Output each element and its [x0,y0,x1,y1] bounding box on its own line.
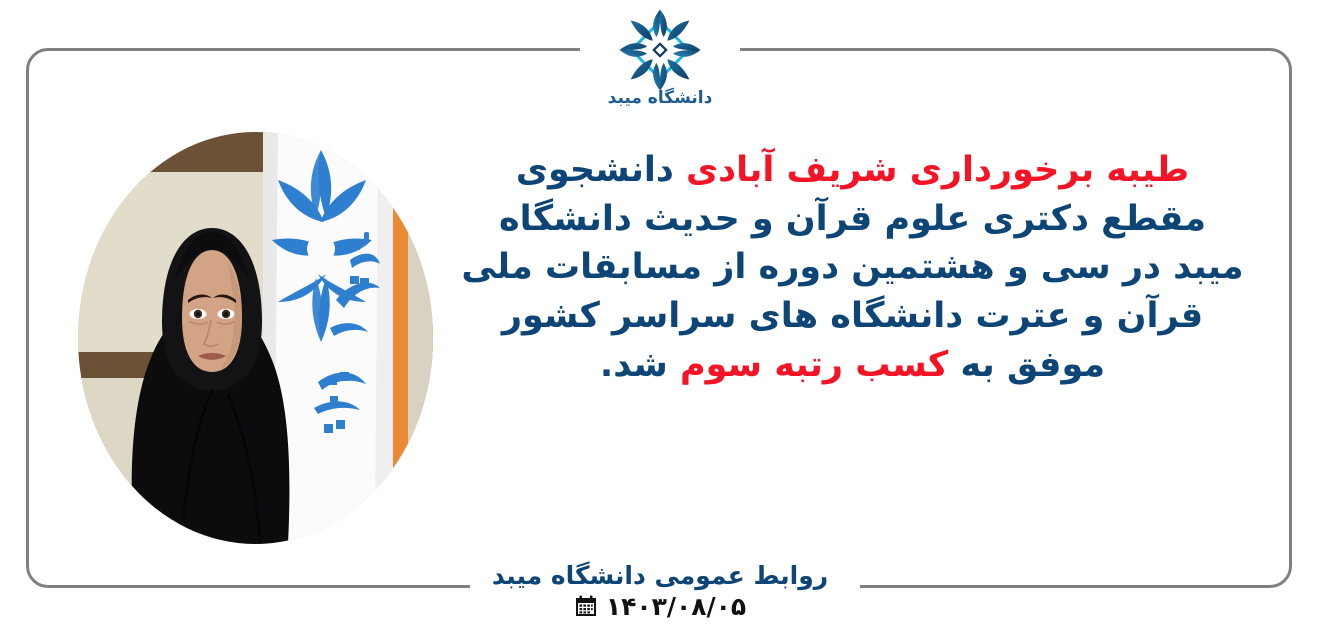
headline-line-1: طیبه برخورداری شریف آبادی دانشجوی [425,150,1280,192]
headline-segment: شد. [600,345,668,385]
headline-segment: طیبه برخورداری شریف آبادی [674,150,1189,190]
meybod-university-emblem-icon [614,4,706,96]
announcement-poster: دانشگاه میبد [0,0,1320,640]
headline-line-4: قرآن و عترت دانشگاه های سراسر کشور [425,296,1280,338]
footer-organization: روابط عمومی دانشگاه میبد [478,562,842,590]
university-logo: دانشگاه میبد [0,4,1320,132]
footer-date-row: ۱۴۰۳/۰۸/۰۵ [0,594,1320,619]
footer: روابط عمومی دانشگاه میبد ۱۴۰۳/۰۸/۰۵ [0,562,1320,619]
calendar-icon [574,594,598,618]
headline-segment: دانشجوی [516,150,674,190]
headline-line-2: مقطع دکتری علوم قرآن و حدیث دانشگاه [425,199,1280,241]
headline-line-3: میبد در سی و هشتمین دوره از مسابقات ملی [425,247,1280,289]
headline-segment: کسب رتبه سوم [668,345,948,385]
headline-segment: موفق به [948,345,1105,385]
headline-block: طیبه برخورداری شریف آبادی دانشجوی مقطع د… [425,150,1280,386]
headline-segment: مقطع دکتری علوم قرآن و حدیث دانشگاه [499,199,1206,239]
headline-line-5: موفق به کسب رتبه سوم شد. [425,345,1280,387]
footer-date: ۱۴۰۳/۰۸/۰۵ [606,594,746,619]
headline-segment: میبد در سی و هشتمین دوره از مسابقات ملی [461,247,1243,287]
logo-wordmark: دانشگاه میبد [608,90,713,107]
headline-segment: قرآن و عترت دانشگاه های سراسر کشور [502,296,1203,336]
portrait-photo [78,132,433,544]
